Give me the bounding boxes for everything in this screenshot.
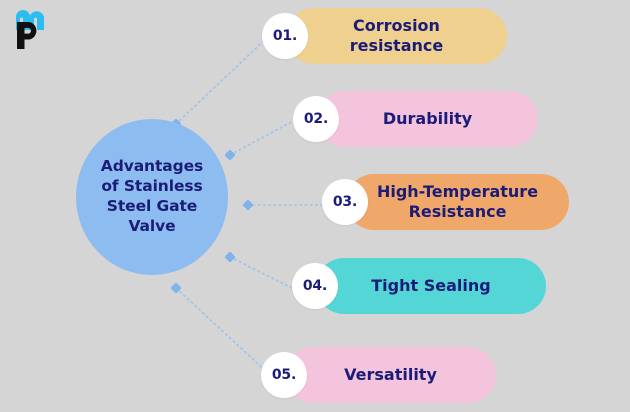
advantage-pill-1[interactable]: Corrosion resistance bbox=[286, 8, 507, 64]
advantage-pill-5[interactable]: Versatility bbox=[285, 347, 496, 403]
advantage-row-4[interactable]: Tight Sealing 04. bbox=[292, 258, 546, 314]
advantage-row-1[interactable]: Corrosion resistance 01. bbox=[262, 8, 507, 64]
leader-line-5 bbox=[176, 288, 270, 375]
advantage-label-5: Versatility bbox=[330, 365, 451, 385]
advantage-badge-2[interactable]: 02. bbox=[293, 96, 339, 142]
arc-node-2 bbox=[224, 149, 235, 160]
center-topic-node: Advantages of Stainless Steel Gate Valve bbox=[76, 119, 228, 275]
advantage-label-3: High-Temperature Resistance bbox=[363, 182, 552, 221]
advantage-pill-3[interactable]: High-Temperature Resistance bbox=[346, 174, 569, 230]
advantage-number-1: 01. bbox=[273, 28, 297, 44]
advantage-number-2: 02. bbox=[304, 111, 328, 127]
advantage-label-4: Tight Sealing bbox=[357, 276, 504, 296]
advantage-row-2[interactable]: Durability 02. bbox=[293, 91, 538, 147]
advantage-badge-1[interactable]: 01. bbox=[262, 13, 308, 59]
advantage-pill-4[interactable]: Tight Sealing bbox=[316, 258, 546, 314]
advantage-label-2: Durability bbox=[369, 109, 486, 129]
leader-line-1 bbox=[176, 33, 272, 124]
advantage-row-5[interactable]: Versatility 05. bbox=[261, 347, 496, 403]
advantage-pill-2[interactable]: Durability bbox=[317, 91, 538, 147]
advantage-number-5: 05. bbox=[272, 367, 296, 383]
arc-node-4 bbox=[224, 251, 235, 262]
arc-node-3 bbox=[242, 199, 253, 210]
advantage-row-3[interactable]: High-Temperature Resistance 03. bbox=[322, 174, 569, 230]
leader-line-4 bbox=[230, 257, 300, 292]
advantage-label-1: Corrosion resistance bbox=[336, 16, 457, 55]
infographic-canvas: Advantages of Stainless Steel Gate Valve… bbox=[0, 0, 630, 412]
advantage-badge-4[interactable]: 04. bbox=[292, 263, 338, 309]
advantage-number-4: 04. bbox=[303, 278, 327, 294]
center-topic-title: Advantages of Stainless Steel Gate Valve bbox=[95, 157, 209, 236]
advantage-number-3: 03. bbox=[333, 194, 357, 210]
advantage-badge-3[interactable]: 03. bbox=[322, 179, 368, 225]
leader-line-2 bbox=[230, 118, 299, 155]
advantage-badge-5[interactable]: 05. bbox=[261, 352, 307, 398]
